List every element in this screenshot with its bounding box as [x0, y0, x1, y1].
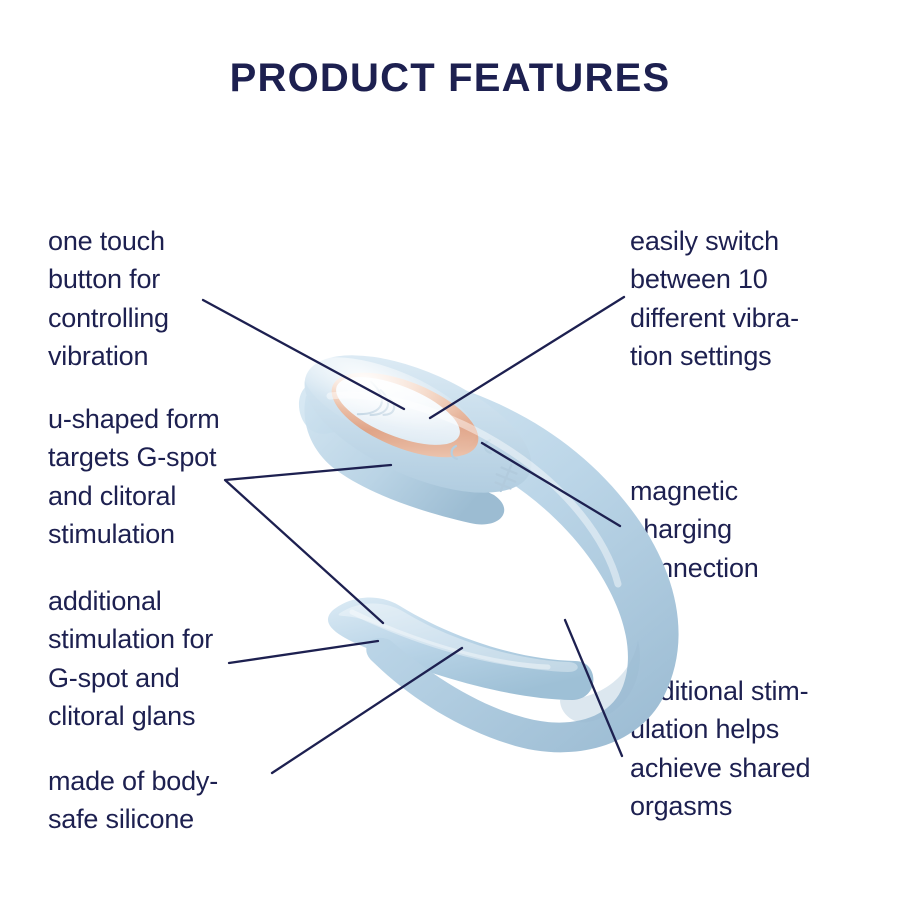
- feature-label-additional-stimulation: additional stimulation for G-spot and cl…: [48, 582, 213, 735]
- feature-label-shared-orgasms: additional stim- ulation helps achieve s…: [630, 672, 810, 825]
- leader-additional-stimulation: [229, 641, 378, 663]
- magnetic-charging-contacts-icon: [491, 461, 520, 494]
- vibration-waves-icon: [358, 382, 400, 426]
- product-accent-ring: [320, 355, 489, 475]
- product-top-slab: [304, 386, 504, 524]
- leader-one-touch-button: [203, 300, 404, 409]
- product-head-capsule: [285, 327, 550, 521]
- leader-magnetic-charging: [482, 443, 620, 526]
- lower-tine-highlight: [339, 604, 578, 673]
- product-body: [285, 327, 678, 752]
- product-main-arm: [299, 375, 679, 752]
- tine-highlight: [352, 612, 548, 667]
- head-gloss: [292, 338, 488, 470]
- arm-highlight: [330, 395, 618, 584]
- product-bottom-shadow: [560, 640, 640, 722]
- leader-u-shaped-form-upper: [225, 465, 391, 623]
- page-title: PRODUCT FEATURES: [0, 56, 900, 101]
- leader-ten-settings: [430, 297, 624, 418]
- leader-body-safe-silicone: [272, 648, 462, 773]
- feature-label-one-touch-button: one touch button for controlling vibrati…: [48, 222, 169, 375]
- product-lower-tine: [328, 598, 593, 700]
- feature-label-ten-vibration-settings: easily switch between 10 different vibra…: [630, 222, 799, 375]
- feature-label-body-safe-silicone: made of body- safe silicone: [48, 762, 218, 839]
- feature-label-u-shaped-form: u-shaped form targets G-spot and clitora…: [48, 400, 220, 553]
- touch-button-panel[interactable]: [327, 363, 468, 459]
- leader-shared-orgasms: [565, 620, 622, 756]
- feature-label-magnetic-charging: magnetic charging connection: [630, 472, 759, 587]
- crescent-mark-icon: [452, 440, 491, 459]
- product-features-infographic: PRODUCT FEATURES: [0, 0, 900, 900]
